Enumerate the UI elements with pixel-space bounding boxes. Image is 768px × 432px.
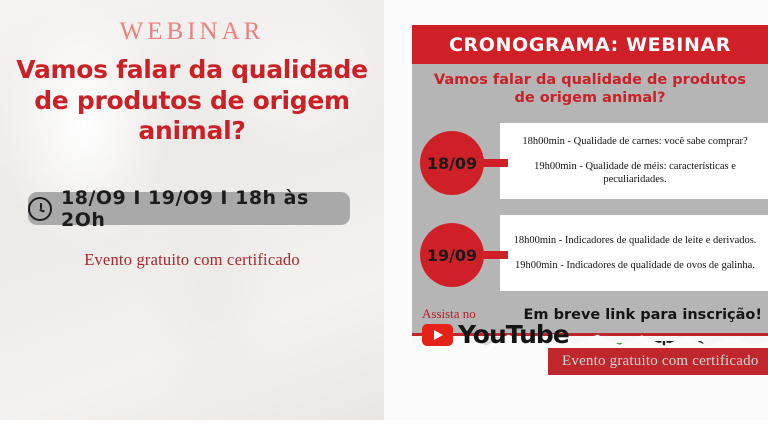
schedule-panel: CRONOGRAMA: WEBINAR Vamos falar da quali… xyxy=(412,25,768,397)
right-poster: CRONOGRAMA: WEBINAR Vamos falar da quali… xyxy=(384,0,768,420)
schedule-session: 19h00min - Qualidade de méis: caracterís… xyxy=(506,160,764,187)
free-event-note: Evento gratuito com certificado xyxy=(0,250,384,270)
free-event-banner-text: Evento gratuito com certificado xyxy=(562,353,759,370)
schedule-row: 19/09 18h00min - Indicadores de qualidad… xyxy=(412,215,768,295)
schedule-header-title: CRONOGRAMA: WEBINAR xyxy=(449,34,731,56)
free-event-banner: Evento gratuito com certificado xyxy=(548,348,768,375)
schedule-sessions-card: 18h00min - Indicadores de qualidade de l… xyxy=(500,215,768,291)
youtube-badge[interactable]: Assista no YouTube xyxy=(422,307,569,347)
schedule-session: 19h00min - Indicadores de qualidade de o… xyxy=(506,259,764,272)
schedule-date-badge: 19/09 xyxy=(420,223,484,287)
youtube-watch-label: Assista no xyxy=(422,307,569,320)
webinar-kicker: WEBINAR xyxy=(0,18,384,46)
schedule-row: 18/09 18h00min - Qualidade de carnes: vo… xyxy=(412,123,768,203)
youtube-play-icon xyxy=(422,324,453,346)
youtube-brand-label: YouTube xyxy=(458,322,569,347)
date-time-text: 18/O9 I 19/O9 I 18h às 2Oh xyxy=(61,187,350,231)
schedule-date-label: 19/09 xyxy=(427,246,477,265)
clock-icon xyxy=(28,197,52,221)
date-time-pill: 18/O9 I 19/O9 I 18h às 2Oh xyxy=(28,192,350,225)
schedule-subtitle: Vamos falar da qualidade de produtos de … xyxy=(426,71,754,107)
schedule-header-bar: CRONOGRAMA: WEBINAR xyxy=(412,25,768,64)
schedule-session: 18h00min - Qualidade de carnes: você sab… xyxy=(506,135,764,148)
schedule-date-badge: 18/09 xyxy=(420,131,484,195)
schedule-date-label: 18/09 xyxy=(427,154,477,173)
schedule-session: 18h00min - Indicadores de qualidade de l… xyxy=(506,234,764,247)
schedule-sessions-card: 18h00min - Qualidade de carnes: você sab… xyxy=(500,123,768,199)
left-poster: WEBINAR Vamos falar da qualidade de prod… xyxy=(0,0,384,420)
schedule-list: 18/09 18h00min - Qualidade de carnes: vo… xyxy=(412,123,768,295)
two-poster-comparison: WEBINAR Vamos falar da qualidade de prod… xyxy=(0,0,768,432)
page-title: Vamos falar da qualidade de produtos de … xyxy=(6,55,378,147)
